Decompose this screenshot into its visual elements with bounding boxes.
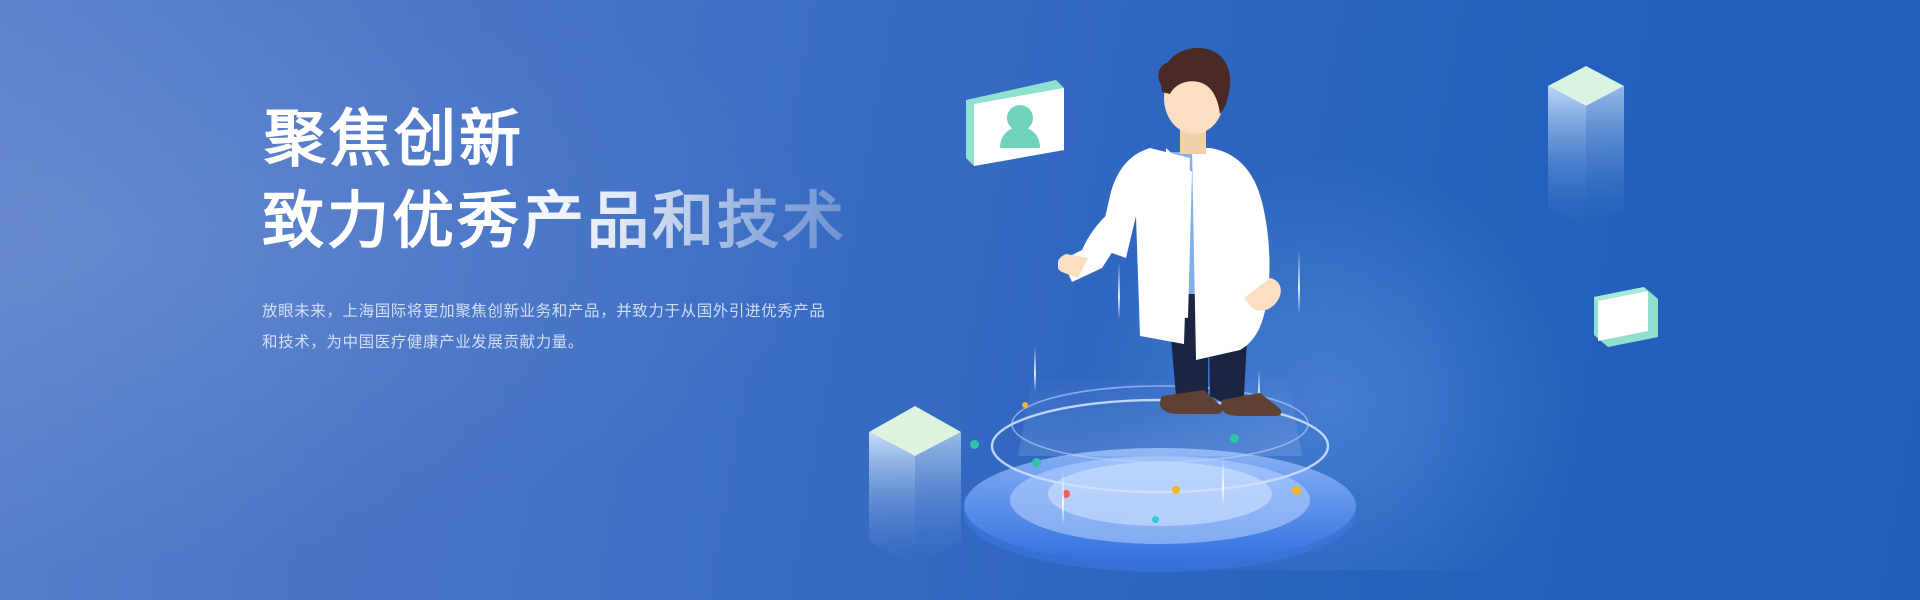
particle-dot — [1152, 516, 1159, 523]
hero-description: 放眼未来，上海国际将更加聚焦创新业务和产品，并致力于从国外引进优秀产品 和技术，… — [262, 296, 862, 358]
light-streak — [1222, 458, 1224, 506]
particle-dot — [1172, 486, 1180, 494]
doctor-figure — [1058, 48, 1358, 458]
description-line-2: 和技术，为中国医疗健康产业发展贡献力量。 — [262, 327, 862, 358]
hero-illustration — [900, 0, 1920, 600]
description-line-1: 放眼未来，上海国际将更加聚焦创新业务和产品，并致力于从国外引进优秀产品 — [262, 296, 862, 327]
light-streak — [1062, 470, 1064, 526]
particle-dot — [1022, 402, 1028, 408]
iso-bar-tall-right — [1540, 60, 1632, 245]
hero-copy: 聚焦创新 致力优秀产品和技术 放眼未来，上海国际将更加聚焦创新业务和产品，并致力… — [262, 104, 902, 358]
user-profile-card-icon — [960, 78, 1070, 170]
particle-dot — [970, 440, 979, 449]
headline-line-2: 致力优秀产品和技术 — [262, 186, 902, 258]
headline-line-1: 聚焦创新 — [264, 104, 902, 176]
hero-banner: 聚焦创新 致力优秀产品和技术 放眼未来，上海国际将更加聚焦创新业务和产品，并致力… — [0, 0, 1920, 600]
particle-dot — [1292, 486, 1301, 495]
particle-dot — [1032, 458, 1041, 467]
iso-card-white — [1590, 285, 1660, 347]
light-streak — [1034, 346, 1036, 392]
